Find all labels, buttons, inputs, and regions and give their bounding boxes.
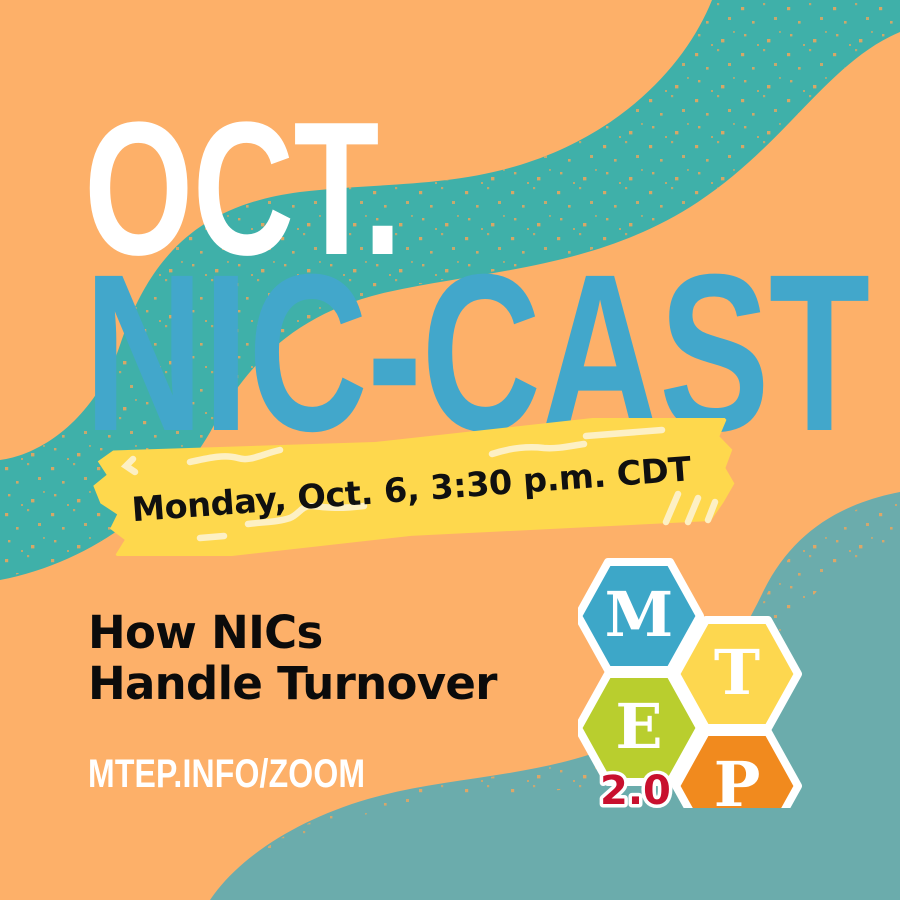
logo-version-label: 2.0 xyxy=(600,768,671,808)
topic-line-2: Handle Turnover xyxy=(88,658,558,709)
page-title: OCT. NIC-CAST xyxy=(84,108,784,448)
mtep-logo-svg: M T E P 2.0 xyxy=(578,558,828,808)
mtep-logo: M T E P 2.0 xyxy=(578,558,828,808)
logo-hex-m: M xyxy=(578,562,700,670)
logo-letter-m: M xyxy=(605,578,674,651)
topic-line-1: How NICs xyxy=(88,607,558,658)
topic-title: How NICs Handle Turnover xyxy=(88,607,558,710)
logo-letter-e: E xyxy=(615,690,662,763)
logo-hex-e: E xyxy=(578,674,700,782)
logo-letter-t: T xyxy=(714,636,760,709)
logo-letter-p: P xyxy=(714,748,761,808)
registration-url[interactable]: MTEP.INFO/ZOOM xyxy=(88,752,365,797)
logo-version-text: 2.0 xyxy=(600,768,671,808)
promo-poster: OCT. NIC-CAST Monday, Oct. 6, 3:30 p.m. … xyxy=(0,0,900,900)
date-banner: Monday, Oct. 6, 3:30 p.m. CDT xyxy=(78,418,738,556)
